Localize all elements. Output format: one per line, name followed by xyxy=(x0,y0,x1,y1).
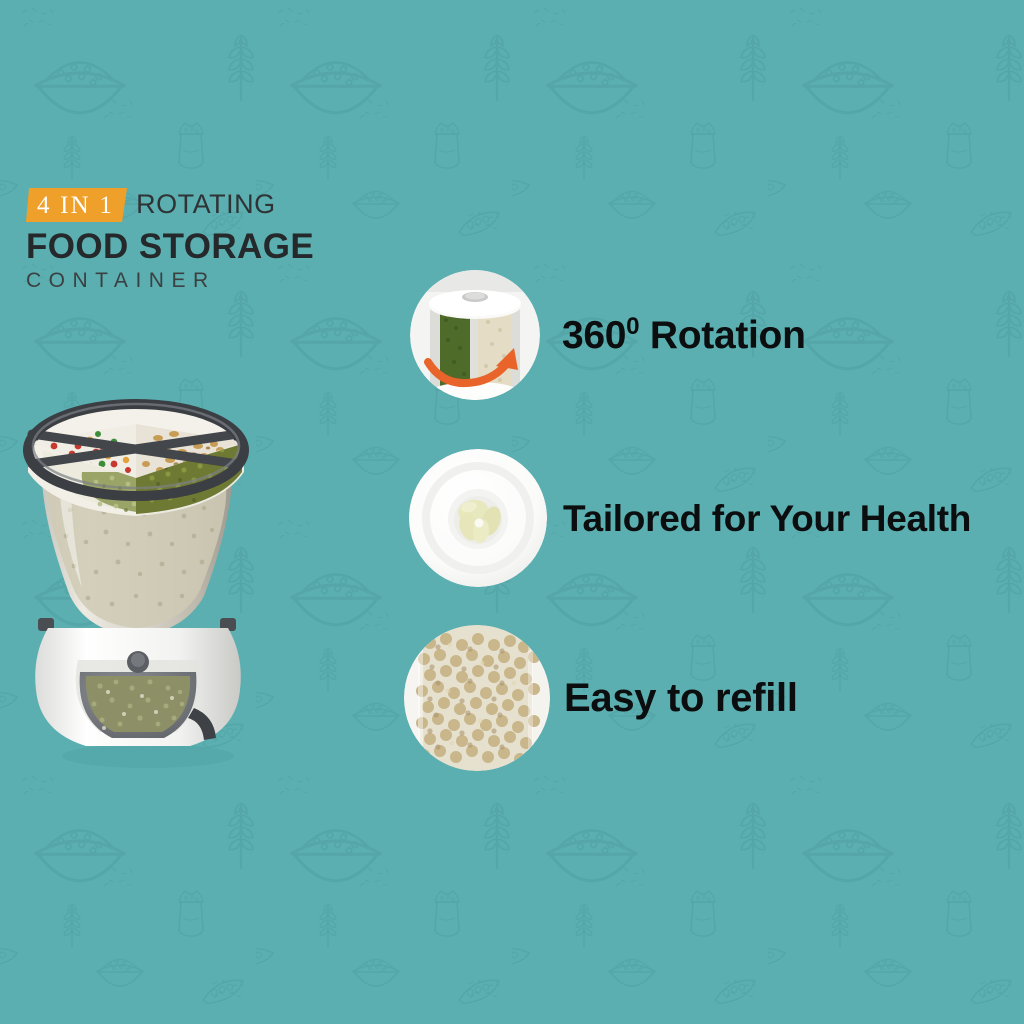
headline-block: 4 IN 1 ROTATING FOOD STORAGE CONTAINER xyxy=(26,182,356,291)
product-photo xyxy=(8,360,288,770)
badge-label: 4 IN 1 xyxy=(37,193,114,218)
feature-label-refill: Easy to refill xyxy=(564,678,798,718)
rotating-word: ROTATING xyxy=(136,191,276,218)
page-title: FOOD STORAGE xyxy=(26,229,356,265)
feature-label-health: Tailored for Your Health xyxy=(563,500,971,537)
feature-row-rotation: 3600 Rotation xyxy=(410,270,806,400)
page-subtitle: CONTAINER xyxy=(26,270,356,291)
badge-row: 4 IN 1 ROTATING xyxy=(26,182,356,222)
rotating-container-photo xyxy=(410,270,540,400)
feature-row-health: Tailored for Your Health xyxy=(409,449,971,587)
feature-row-refill: Easy to refill xyxy=(404,625,798,771)
four-in-one-badge: 4 IN 1 xyxy=(26,188,127,222)
feature-label-rotation: 3600 Rotation xyxy=(562,316,806,355)
chickpeas-fill-photo xyxy=(404,625,550,771)
white-dish-with-tablets-photo xyxy=(409,449,547,587)
product-marketing-banner: 4 IN 1 ROTATING FOOD STORAGE CONTAINER xyxy=(0,0,1024,1024)
degree-symbol: 0 xyxy=(626,313,639,340)
